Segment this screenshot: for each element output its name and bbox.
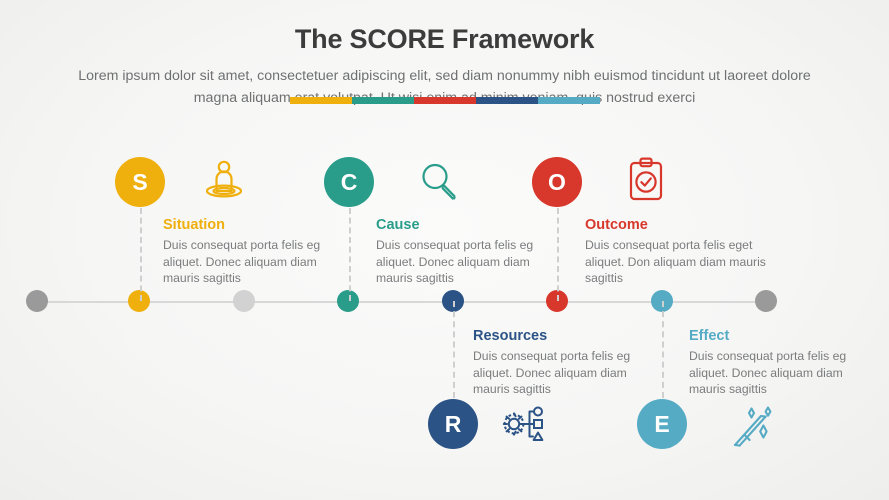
- badge-effect[interactable]: E: [637, 399, 687, 449]
- timeline-node-cause[interactable]: [337, 290, 359, 312]
- page-title: The SCORE Framework: [0, 22, 889, 56]
- badge-letter-situation: S: [132, 171, 147, 194]
- accent-color-bar: [290, 97, 600, 104]
- text-block-situation: SituationDuis consequat porta felis eg a…: [163, 216, 345, 287]
- clipboard-check-icon: [618, 152, 674, 208]
- badge-resources[interactable]: R: [428, 399, 478, 449]
- text-block-effect: EffectDuis consequat porta felis eg aliq…: [689, 327, 871, 398]
- item-title-cause: Cause: [376, 216, 558, 234]
- item-title-resources: Resources: [473, 327, 655, 345]
- timeline-node-situation[interactable]: [128, 290, 150, 312]
- person-location-icon: [196, 152, 252, 208]
- badge-letter-cause: C: [341, 171, 358, 194]
- connector-effect: [662, 301, 664, 398]
- item-body-cause: Duis consequat porta felis eg aliquet. D…: [376, 237, 558, 287]
- accent-segment-yellow: [290, 97, 352, 104]
- item-title-situation: Situation: [163, 216, 345, 234]
- badge-letter-resources: R: [445, 413, 462, 436]
- item-title-outcome: Outcome: [585, 216, 767, 234]
- connector-cause: [349, 208, 351, 301]
- text-block-cause: CauseDuis consequat porta felis eg aliqu…: [376, 216, 558, 287]
- infographic-canvas: The SCORE Framework Lorem ipsum dolor si…: [0, 0, 889, 500]
- item-title-effect: Effect: [689, 327, 871, 345]
- accent-segment-lightblue: [538, 97, 600, 104]
- accent-segment-navy: [476, 97, 538, 104]
- timeline-node-start[interactable]: [26, 290, 48, 312]
- badge-cause[interactable]: C: [324, 157, 374, 207]
- badge-letter-effect: E: [654, 413, 669, 436]
- badge-letter-outcome: O: [548, 171, 566, 194]
- connector-situation: [140, 208, 142, 301]
- connector-resources: [453, 301, 455, 398]
- timeline-node-end[interactable]: [755, 290, 777, 312]
- timeline-node-spacer[interactable]: [233, 290, 255, 312]
- badge-outcome[interactable]: O: [532, 157, 582, 207]
- accent-segment-red: [414, 97, 476, 104]
- header: The SCORE Framework Lorem ipsum dolor si…: [0, 22, 889, 109]
- text-block-outcome: OutcomeDuis consequat porta felis eget a…: [585, 216, 767, 287]
- accent-segment-teal: [352, 97, 414, 104]
- badge-situation[interactable]: S: [115, 157, 165, 207]
- item-body-situation: Duis consequat porta felis eg aliquet. D…: [163, 237, 345, 287]
- item-body-outcome: Duis consequat porta felis eget aliquet.…: [585, 237, 767, 287]
- text-block-resources: ResourcesDuis consequat porta felis eg a…: [473, 327, 655, 398]
- item-body-resources: Duis consequat porta felis eg aliquet. D…: [473, 348, 655, 398]
- magnifier-icon: [411, 154, 467, 210]
- item-body-effect: Duis consequat porta felis eg aliquet. D…: [689, 348, 871, 398]
- magic-wand-icon: [726, 399, 782, 455]
- gear-nodes-icon: [497, 396, 553, 452]
